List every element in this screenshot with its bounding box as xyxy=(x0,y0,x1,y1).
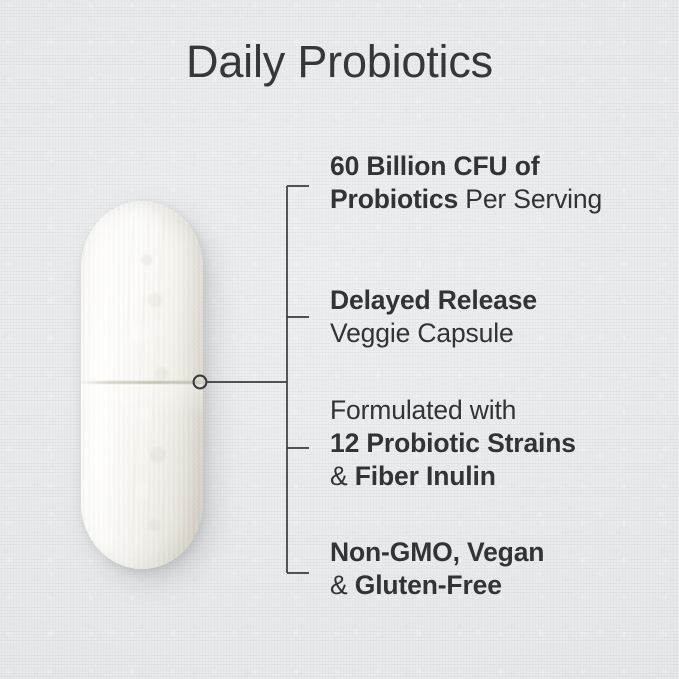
feature-bold-text: Probiotics xyxy=(330,184,458,214)
feature-delayed-release: Delayed Release Veggie Capsule xyxy=(330,284,670,350)
feature-regular-text: & xyxy=(330,461,355,491)
feature-line: Non-GMO, Vegan xyxy=(330,536,670,569)
feature-bold-text: 60 Billion CFU of xyxy=(330,151,539,181)
feature-regular-text: Veggie Capsule xyxy=(330,318,514,348)
feature-bold-text: Delayed Release xyxy=(330,285,537,315)
capsule-seam-line xyxy=(81,381,203,384)
feature-bold-text: Fiber Inulin xyxy=(355,461,496,491)
feature-regular-text: Per Serving xyxy=(458,184,602,214)
feature-line: Probiotics Per Serving xyxy=(330,183,670,216)
feature-regular-text: & xyxy=(330,570,355,600)
feature-bold-text: Gluten-Free xyxy=(355,570,502,600)
feature-line: & Fiber Inulin xyxy=(330,460,670,493)
feature-bold-text: Non-GMO, Vegan xyxy=(330,537,544,567)
feature-bold-text: 12 Probiotic Strains xyxy=(330,428,576,458)
feature-line: 12 Probiotic Strains xyxy=(330,427,670,460)
capsule-striation-texture xyxy=(127,216,164,555)
feature-regular-text: Formulated with xyxy=(330,395,516,425)
capsule-highlight xyxy=(92,212,119,558)
feature-line: Delayed Release xyxy=(330,284,670,317)
feature-line: Formulated with xyxy=(330,394,670,427)
page-title: Daily Probiotics xyxy=(0,36,679,88)
feature-strains-and-fiber: Formulated with 12 Probiotic Strains & F… xyxy=(330,394,670,493)
probiotic-capsule xyxy=(81,201,203,569)
feature-cfu-count: 60 Billion CFU of Probiotics Per Serving xyxy=(330,150,670,216)
feature-line: 60 Billion CFU of xyxy=(330,150,670,183)
feature-line: & Gluten-Free xyxy=(330,569,670,602)
product-infographic: Daily Probiotics 60 Billion CFU of Probi… xyxy=(0,0,679,679)
feature-dietary-claims: Non-GMO, Vegan & Gluten-Free xyxy=(330,536,670,602)
feature-line: Veggie Capsule xyxy=(330,317,670,350)
